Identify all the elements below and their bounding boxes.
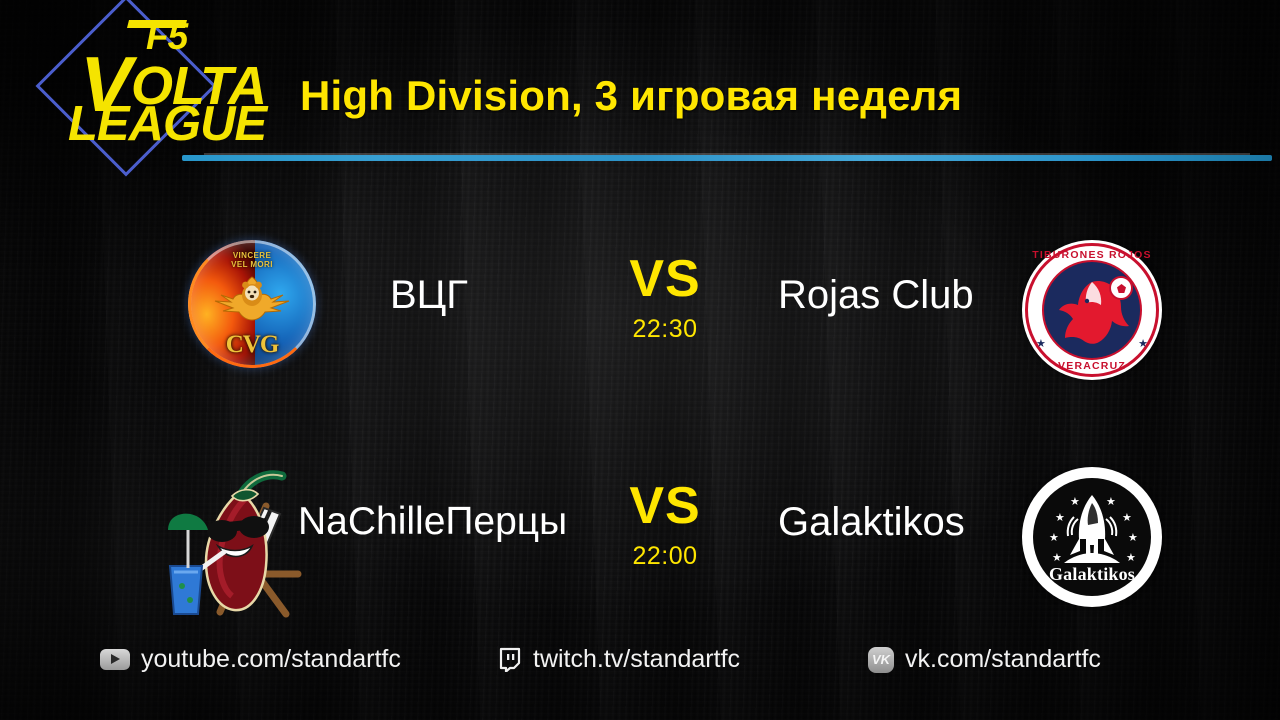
away-team-crest: ★ ★ ★ ★ ★ ★ ★ ★ xyxy=(1022,467,1162,607)
social-link-vk[interactable]: VK vk.com/standartfc xyxy=(868,645,1101,674)
title-underline xyxy=(182,155,1272,161)
home-team-crest xyxy=(148,462,348,627)
social-link-label: twitch.tv/standartfc xyxy=(533,645,740,674)
logo-f5-text: F5 xyxy=(146,20,187,54)
vs-label: VS xyxy=(600,480,730,532)
match-row: VINCEREVEL MORI CVG ВЦГ VS 22:30 Rojas C… xyxy=(0,235,1280,405)
rocket-icon xyxy=(1062,493,1122,569)
star-left-icon: ★ xyxy=(1036,337,1046,350)
league-logo: F5 VOLTA LEAGUE xyxy=(38,6,258,196)
footer-social-bar: youtube.com/standartfc twitch.tv/standar… xyxy=(0,645,1280,687)
winged-bear-icon xyxy=(209,271,295,327)
cvg-monogram-text: CVG xyxy=(188,331,316,359)
away-team-name: Rojas Club xyxy=(778,273,1028,318)
soccer-ball-icon xyxy=(1109,276,1133,300)
home-team-crest: VINCEREVEL MORI CVG xyxy=(188,240,316,368)
away-team-crest: TIBURONES ROJOS ★ ★ VERACRUZ xyxy=(1022,240,1162,380)
cvg-crest: VINCEREVEL MORI CVG xyxy=(188,240,316,368)
galaktikos-crest: ★ ★ ★ ★ ★ ★ ★ ★ xyxy=(1022,467,1162,607)
match-time: 22:30 xyxy=(600,315,730,344)
broadcast-graphic: F5 VOLTA LEAGUE High Division, 3 игровая… xyxy=(0,0,1280,720)
logo-wordmark: F5 VOLTA LEAGUE xyxy=(38,6,258,196)
tiburones-crest: TIBURONES ROJOS ★ ★ VERACRUZ xyxy=(1022,240,1162,380)
vs-label: VS xyxy=(600,253,730,305)
social-link-youtube[interactable]: youtube.com/standartfc xyxy=(100,645,401,674)
cvg-motto-text: VINCEREVEL MORI xyxy=(188,251,316,269)
social-link-twitch[interactable]: twitch.tv/standartfc xyxy=(498,645,740,674)
home-team-name: NaChilleПерцы xyxy=(298,500,513,544)
tiburones-arc-bottom-text: VERACRUZ xyxy=(1022,360,1162,372)
twitch-icon xyxy=(498,647,522,672)
logo-league-text: LEAGUE xyxy=(68,102,266,147)
youtube-icon xyxy=(100,649,130,670)
star-right-icon: ★ xyxy=(1138,337,1148,350)
social-link-label: youtube.com/standartfc xyxy=(141,645,401,674)
match-row: NaChilleПерцы VS 22:00 Galaktikos ★ ★ ★ … xyxy=(0,462,1280,632)
away-team-name: Galaktikos xyxy=(778,500,1028,545)
match-vs-block: VS 22:00 xyxy=(600,480,730,571)
social-link-label: vk.com/standartfc xyxy=(905,645,1101,674)
page-title: High Division, 3 игровая неделя xyxy=(300,72,962,120)
match-vs-block: VS 22:30 xyxy=(600,253,730,344)
vk-icon: VK xyxy=(868,647,894,673)
home-team-name: ВЦГ xyxy=(390,273,605,318)
match-time: 22:00 xyxy=(600,542,730,571)
galaktikos-name-text: Galaktikos xyxy=(1022,564,1162,585)
